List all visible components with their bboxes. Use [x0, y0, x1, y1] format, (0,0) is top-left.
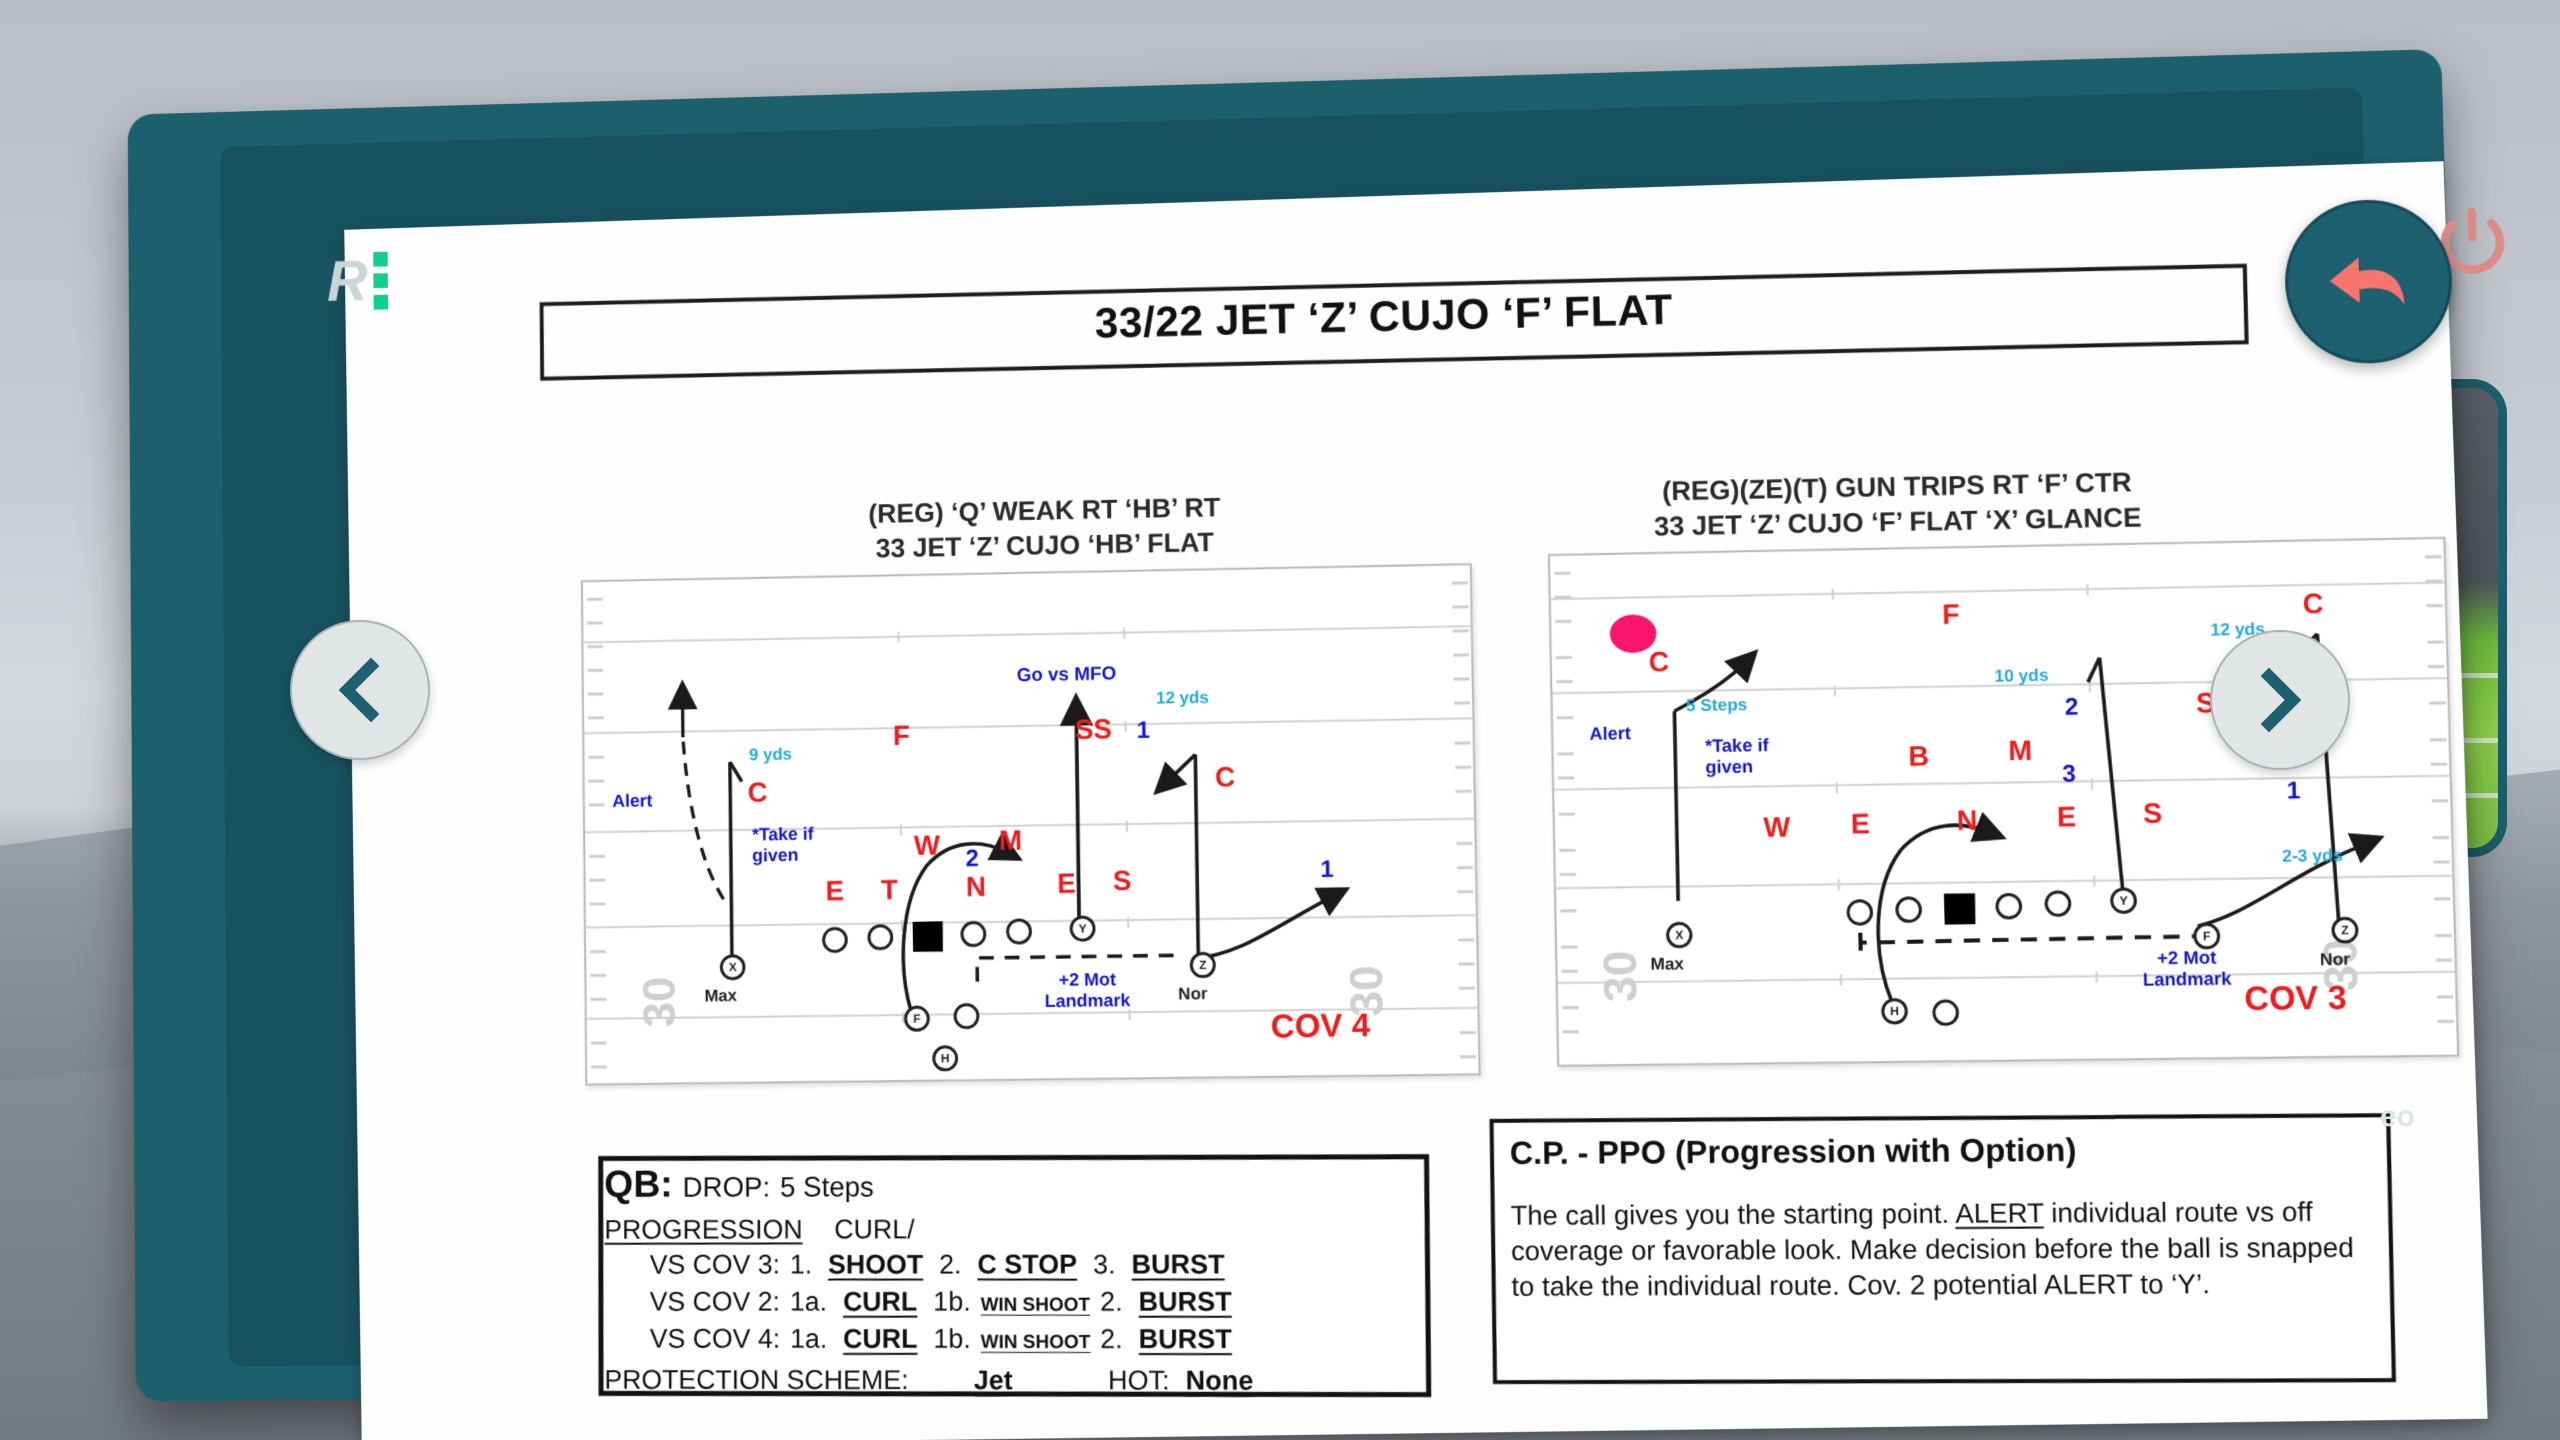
field-tick-rail-left [587, 582, 609, 1084]
chevron-left-icon [321, 651, 399, 729]
def-label-e2-2: E [2057, 801, 2077, 834]
next-play-button[interactable] [2210, 630, 2350, 770]
previous-play-button[interactable] [290, 620, 430, 760]
chevron-right-icon [2241, 661, 2319, 739]
video-panel-label: eo [2380, 1100, 2415, 1134]
app-logo: R [327, 252, 388, 311]
route-num-3-right: 3 [2062, 760, 2076, 789]
logo-letter: R [327, 253, 366, 311]
cp-body-part1: The call gives you the starting point. [1510, 1198, 1955, 1231]
playbook-tablet: R 33/22 JET ‘Z’ CUJO ‘F’ FLAT (REG) ‘Q’ … [128, 49, 2480, 1401]
